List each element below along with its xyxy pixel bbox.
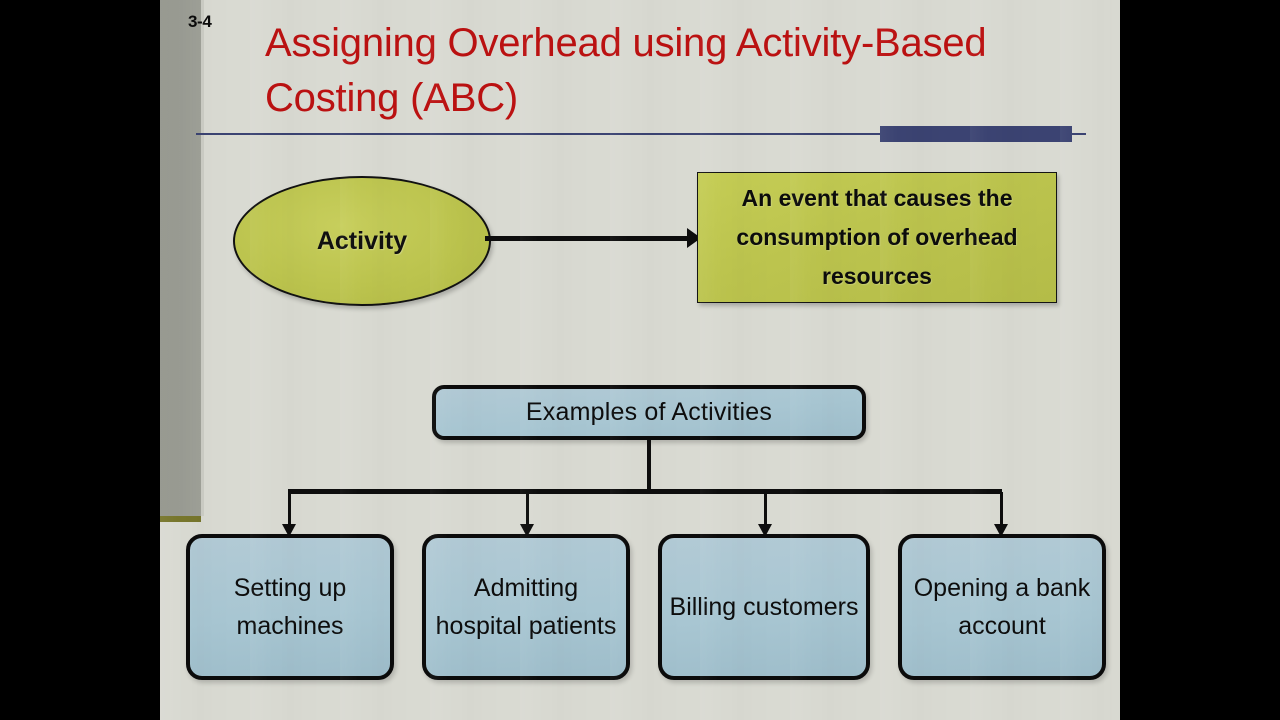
slide-number: 3-4 (188, 12, 211, 32)
connector-drop-4 (1000, 492, 1003, 526)
screenshot-stage: 3-4 Assigning Overhead using Activity-Ba… (0, 0, 1280, 720)
example-box-label: Setting up machines (190, 569, 390, 645)
examples-header-label: Examples of Activities (526, 398, 772, 427)
example-box-billing-customers: Billing customers (658, 534, 870, 680)
activity-ellipse: Activity (233, 176, 491, 306)
example-box-label: Admitting hospital patients (426, 569, 626, 645)
connector-vertical-trunk (647, 440, 651, 492)
definition-callout-text: An event that causes the consumption of … (698, 179, 1056, 296)
connector-drop-1 (288, 492, 291, 526)
slide-side-strip-shadow (201, 0, 204, 516)
slide-side-strip-foot (160, 516, 201, 522)
presentation-slide: 3-4 Assigning Overhead using Activity-Ba… (160, 0, 1120, 720)
example-box-opening-a-bank-account: Opening a bank account (898, 534, 1106, 680)
connector-drop-2 (526, 492, 529, 526)
example-box-label: Opening a bank account (902, 569, 1102, 645)
definition-arrow-line (485, 236, 690, 241)
example-box-setting-up-machines: Setting up machines (186, 534, 394, 680)
page-title: Assigning Overhead using Activity-Based … (265, 16, 1045, 126)
title-accent-bar (880, 126, 1072, 142)
examples-header-box: Examples of Activities (432, 385, 866, 440)
connector-horizontal-bus (288, 489, 1002, 494)
connector-drop-3 (764, 492, 767, 526)
example-box-admitting-hospital-patients: Admitting hospital patients (422, 534, 630, 680)
definition-callout-box: An event that causes the consumption of … (697, 172, 1057, 303)
slide-side-strip (160, 0, 201, 516)
example-box-label: Billing customers (664, 588, 865, 626)
activity-ellipse-label: Activity (317, 227, 407, 256)
